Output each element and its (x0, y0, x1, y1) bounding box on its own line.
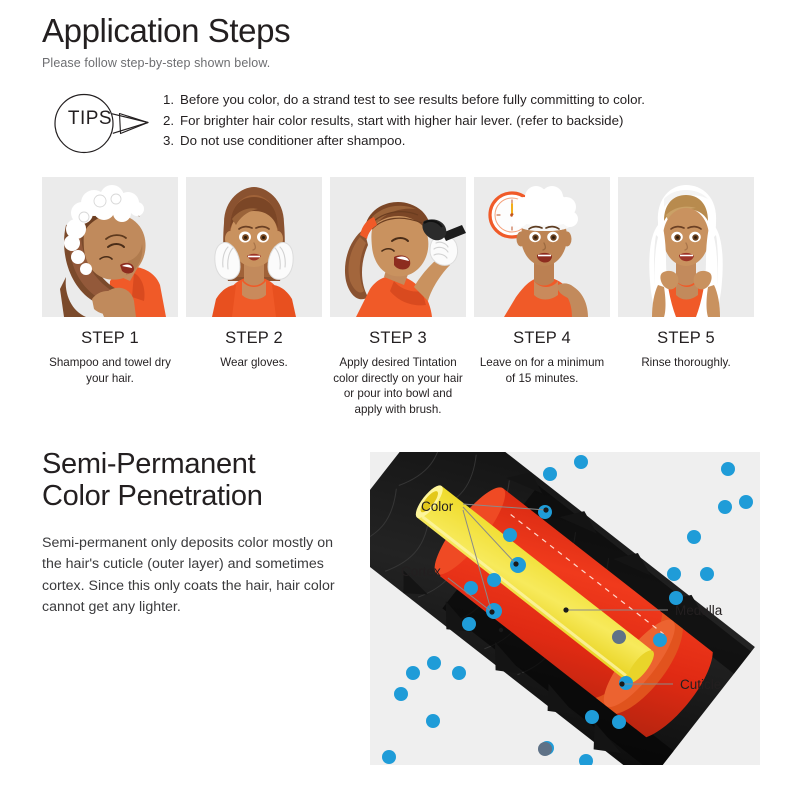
step-1-title: STEP 1 (42, 329, 178, 348)
tips-list: 1. Before you color, do a strand test to… (163, 90, 763, 152)
step-3-description: Apply desired Tintation color directly o… (330, 355, 466, 417)
step-card-2: STEP 2 Wear gloves. (186, 177, 322, 417)
step-card-3: STEP 3 Apply desired Tintation color dir… (330, 177, 466, 417)
diagram-label-cortex: Cortex (401, 564, 441, 579)
step-3-illustration (330, 177, 466, 317)
tips-badge-label: TIPS (56, 108, 124, 130)
step-1-description: Shampoo and towel dry your hair. (42, 355, 178, 386)
step-card-5: STEP 5 Rinse thoroughly. (618, 177, 754, 417)
page-header: Application Steps Please follow step-by-… (42, 14, 762, 70)
tips-callout: TIPS (44, 85, 154, 163)
tip-number: 1. (163, 90, 180, 111)
diagram-label-color: Color (421, 499, 454, 514)
semi-permanent-title-line-1: Semi-Permanent (42, 448, 352, 480)
tip-number: 2. (163, 111, 180, 132)
tip-number: 3. (163, 131, 180, 152)
tip-item: 1. Before you color, do a strand test to… (163, 90, 763, 111)
tip-text: Do not use conditioner after shampoo. (180, 131, 763, 152)
step-4-description: Leave on for a minimum of 15 minutes. (474, 355, 610, 386)
step-2-description: Wear gloves. (186, 355, 322, 371)
step-1-illustration (42, 177, 178, 317)
step-5-title: STEP 5 (618, 329, 754, 348)
diagram-label-cuticle: Cuticle (680, 677, 721, 692)
semi-permanent-title: Semi-Permanent Color Penetration (42, 448, 352, 513)
step-4-title: STEP 4 (474, 329, 610, 348)
tip-item: 2. For brighter hair color results, star… (163, 111, 763, 132)
page-subtitle: Please follow step-by-step shown below. (42, 56, 762, 70)
diagram-label-medulla: Medulla (675, 603, 723, 618)
step-2-title: STEP 2 (186, 329, 322, 348)
semi-permanent-title-line-2: Color Penetration (42, 480, 352, 512)
tip-text: For brighter hair color results, start w… (180, 111, 763, 132)
step-3-title: STEP 3 (330, 329, 466, 348)
semi-permanent-section: Semi-Permanent Color Penetration Semi-pe… (42, 448, 352, 619)
step-5-description: Rinse thoroughly. (618, 355, 754, 371)
tip-item: 3. Do not use conditioner after shampoo. (163, 131, 763, 152)
step-4-illustration (474, 177, 610, 317)
steps-row: STEP 1 Shampoo and towel dry your hair. (42, 177, 758, 417)
step-5-illustration (618, 177, 754, 317)
tip-text: Before you color, do a strand test to se… (180, 90, 763, 111)
step-card-4: STEP 4 Leave on for a minimum of 15 minu… (474, 177, 610, 417)
semi-permanent-body: Semi-permanent only deposits color mostl… (42, 533, 352, 619)
step-card-1: STEP 1 Shampoo and towel dry your hair. (42, 177, 178, 417)
step-2-illustration (186, 177, 322, 317)
page-title: Application Steps (42, 14, 762, 49)
hair-structure-diagram: Color Cortex Medulla Cuticle (370, 452, 760, 765)
